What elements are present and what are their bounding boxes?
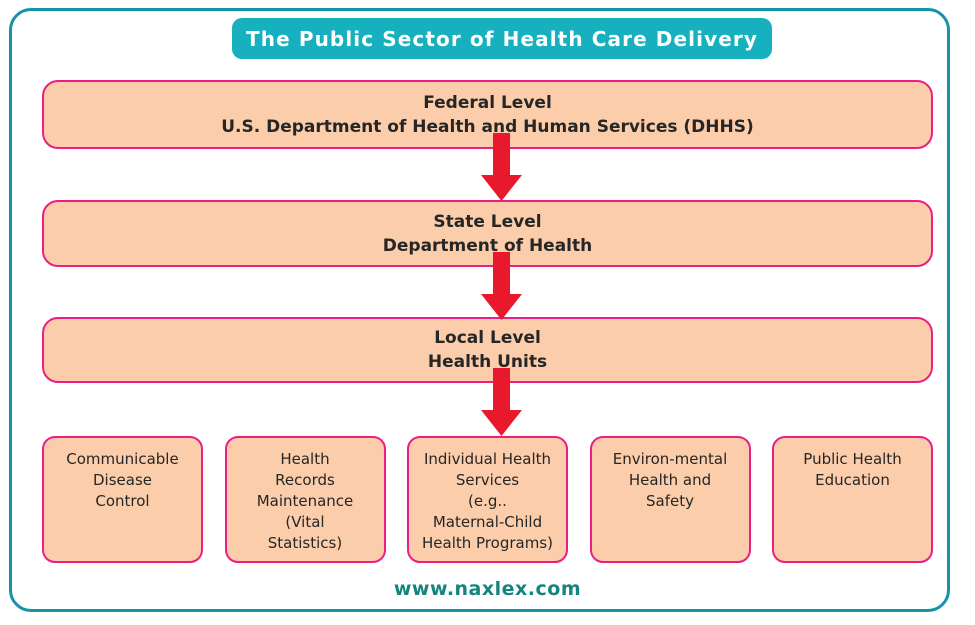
service-line: Services [456, 470, 519, 491]
arrow-state-to-local-icon [481, 252, 522, 320]
service-line: Environ-mental [613, 449, 728, 470]
service-line: (e.g.. [468, 491, 507, 512]
service-line: Safety [646, 491, 694, 512]
level-state-line1: State Level [433, 210, 541, 234]
service-line: Education [815, 470, 890, 491]
service-line: Maternal-Child [433, 512, 542, 533]
diagram-title-text: The Public Sector of Health Care Deliver… [246, 27, 758, 51]
service-line: Control [95, 491, 149, 512]
service-line: Health Programs) [422, 533, 553, 554]
service-line: Public Health [803, 449, 901, 470]
level-local-line1: Local Level [434, 326, 541, 350]
footer-website-url: www.naxlex.com [0, 578, 975, 600]
service-line: Records [275, 470, 335, 491]
service-line: Disease [93, 470, 152, 491]
service-box-health-records-maintenance: Health Records Maintenance (Vital Statis… [225, 436, 386, 563]
service-box-individual-health-services: Individual Health Services (e.g.. Matern… [407, 436, 568, 563]
level-federal-line1: Federal Level [423, 91, 552, 115]
service-line: Statistics) [268, 533, 342, 554]
service-line: Health and [629, 470, 711, 491]
service-box-communicable-disease-control: Communicable Disease Control [42, 436, 203, 563]
arrow-federal-to-state-icon [481, 133, 522, 201]
service-box-public-health-education: Public Health Education [772, 436, 933, 563]
service-line: (Vital [285, 512, 324, 533]
diagram-title-banner: The Public Sector of Health Care Deliver… [232, 18, 772, 59]
arrow-local-to-services-icon [481, 368, 522, 436]
service-line: Communicable [66, 449, 178, 470]
service-line: Individual Health [424, 449, 551, 470]
diagram-canvas: The Public Sector of Health Care Deliver… [0, 0, 975, 625]
service-line: Health [280, 449, 329, 470]
service-line: Maintenance [257, 491, 354, 512]
service-boxes-row: Communicable Disease Control Health Reco… [42, 436, 933, 563]
service-box-environmental-health-and-safety: Environ-mental Health and Safety [590, 436, 751, 563]
